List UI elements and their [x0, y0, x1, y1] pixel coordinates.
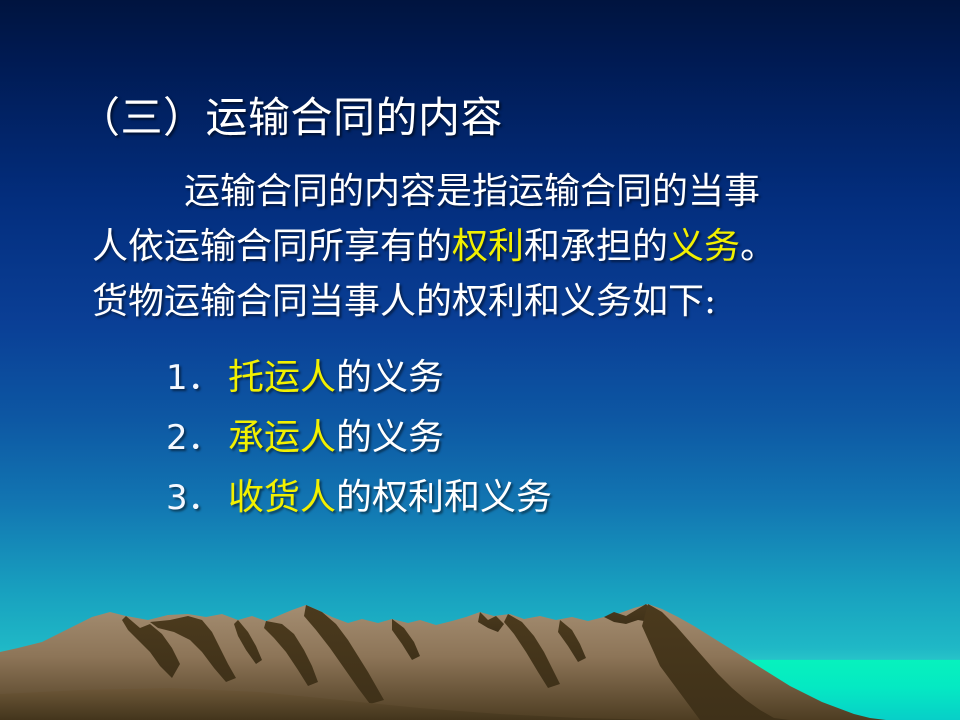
- list-item-text: 的权利和义务: [336, 477, 552, 518]
- list-item-number: 2．: [166, 408, 228, 468]
- page-title: （三）运输合同的内容: [78, 96, 503, 140]
- paragraph-line-2-part-c: 。: [740, 226, 776, 267]
- list-item-number: 3．: [166, 468, 228, 528]
- body-paragraph: 运输合同的内容是指运输合同的当事 人依运输合同所享有的权利和承担的义务。 货物运…: [92, 164, 882, 329]
- slide-text-layer: （三）运输合同的内容 运输合同的内容是指运输合同的当事 人依运输合同所享有的权利…: [0, 0, 960, 720]
- presentation-slide: （三）运输合同的内容 运输合同的内容是指运输合同的当事 人依运输合同所享有的权利…: [0, 0, 960, 720]
- paragraph-line-2-part-a: 人依运输合同所享有的: [92, 226, 452, 267]
- list-item: 1．托运人的义务: [166, 348, 552, 408]
- list-item: 2．承运人的义务: [166, 408, 552, 468]
- paragraph-line-2: 人依运输合同所享有的权利和承担的义务。: [92, 219, 882, 274]
- numbered-list: 1．托运人的义务 2．承运人的义务 3．收货人的权利和义务: [166, 348, 552, 528]
- highlight-obligations: 义务: [668, 226, 740, 267]
- highlight-rights: 权利: [452, 226, 524, 267]
- list-item-text: 的义务: [336, 357, 444, 398]
- paragraph-line-3: 货物运输合同当事人的权利和义务如下:: [92, 274, 882, 329]
- list-item-text: 的义务: [336, 417, 444, 458]
- list-item-keyword: 承运人: [228, 417, 336, 458]
- paragraph-line-2-part-b: 和承担的: [524, 226, 668, 267]
- paragraph-line-1: 运输合同的内容是指运输合同的当事: [92, 164, 882, 219]
- list-item-keyword: 托运人: [228, 357, 336, 398]
- list-item: 3．收货人的权利和义务: [166, 468, 552, 528]
- list-item-number: 1．: [166, 348, 228, 408]
- list-item-keyword: 收货人: [228, 477, 336, 518]
